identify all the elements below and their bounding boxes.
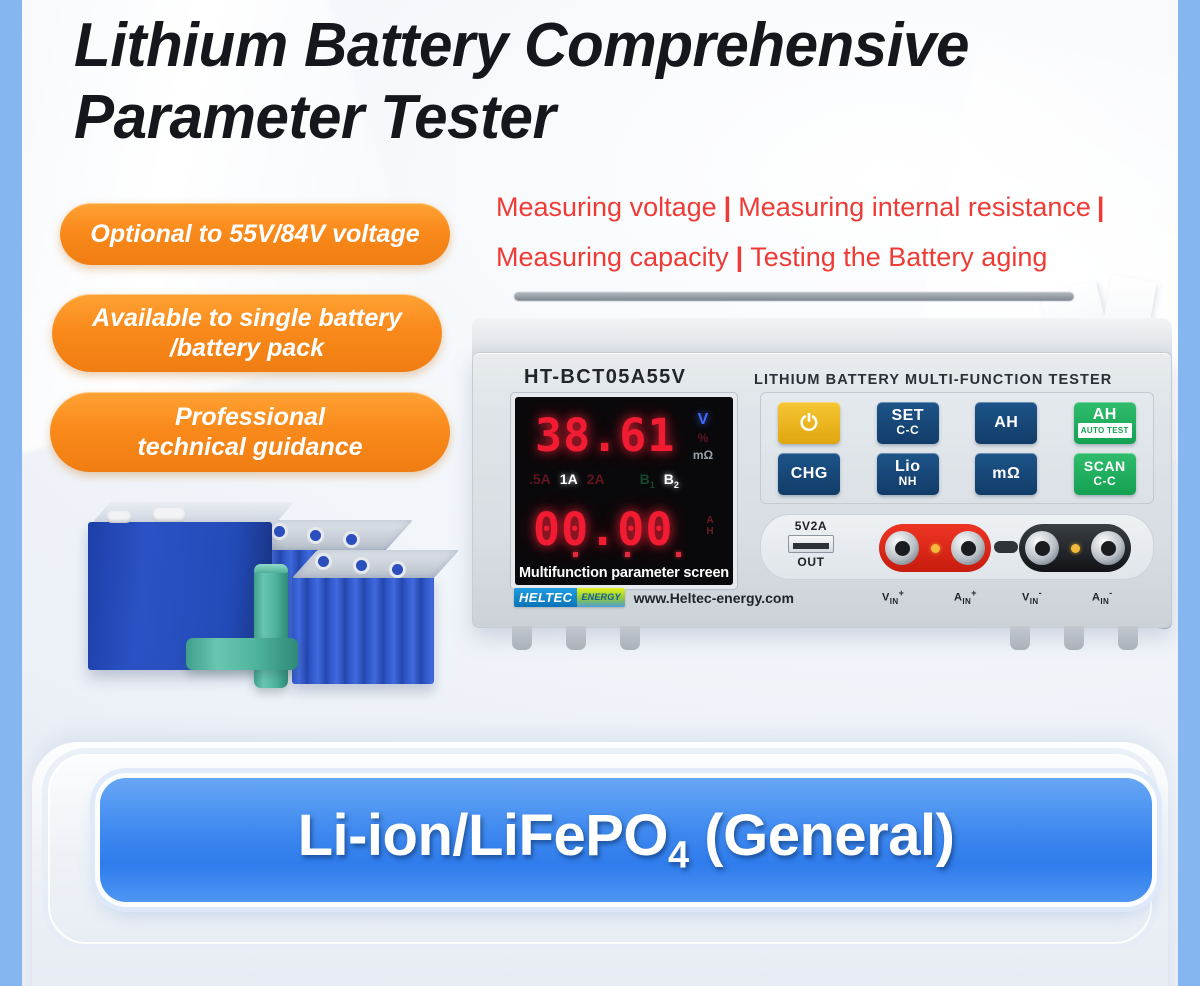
- banner-text-after: (General): [689, 803, 955, 868]
- cell-contact-dot: [346, 534, 357, 545]
- lcd-unit-group-secondary: A H: [699, 515, 721, 537]
- ain-negative-socket[interactable]: [1091, 531, 1125, 565]
- lcd-screen: 38.61 V % mΩ .5A 1A 2A B1 B2 00.00: [515, 397, 733, 585]
- device-foot: [1064, 626, 1084, 650]
- power-icon: ⏻: [800, 412, 818, 434]
- prismatic-vent: [152, 508, 186, 522]
- power-button[interactable]: ⏻: [778, 402, 840, 444]
- device-foot: [512, 626, 532, 650]
- logo-sub-text: ENERGY: [577, 588, 624, 607]
- key-badge-auto-test: AUTO TEST: [1078, 423, 1132, 438]
- key-label-line1: SCAN: [1084, 459, 1126, 474]
- battery-tester-device: HT-BCT05A55V LITHIUM BATTERY MULTI-FUNCT…: [454, 300, 1178, 655]
- cell-contact-dot: [318, 556, 329, 567]
- ain-positive-socket[interactable]: [951, 531, 985, 565]
- ah-button[interactable]: AH: [975, 402, 1037, 444]
- chg-button[interactable]: CHG: [778, 453, 840, 495]
- device-foot: [620, 626, 640, 650]
- feature-4-label: Testing the Battery aging: [750, 242, 1047, 272]
- device-handle: [514, 292, 1074, 301]
- feature-3-label: Measuring capacity: [496, 242, 729, 272]
- lcd-indicator-0p5a: .5A: [529, 471, 551, 487]
- lcd-status-dots: [573, 552, 681, 557]
- badge-voltage-option: Optional to 55V/84V voltage: [60, 203, 450, 265]
- feature-1-label: Measuring voltage: [496, 192, 717, 222]
- vin-negative-socket[interactable]: [1025, 531, 1059, 565]
- cell-contact-dot: [310, 530, 321, 541]
- prismatic-terminal: [106, 511, 132, 523]
- key-label-line2: C-C: [1093, 474, 1116, 489]
- badge-battery-support: Available to single battery /battery pac…: [52, 294, 442, 372]
- chemistry-banner: Li-ion/LiFePO4 (General): [100, 778, 1152, 902]
- key-label-line1: mΩ: [992, 466, 1020, 481]
- key-label-line2: C-C: [896, 423, 919, 438]
- lcd-bezel: 38.61 V % mΩ .5A 1A 2A B1 B2 00.00: [510, 392, 738, 590]
- feature-separator-trailing: |: [1091, 192, 1105, 222]
- key-label-line1: CHG: [791, 466, 828, 481]
- lcd-voltage-value: 38.61: [535, 409, 675, 462]
- usb-label-bottom: OUT: [775, 555, 847, 569]
- feature-line-2: Measuring capacity|Testing the Battery a…: [496, 232, 1178, 282]
- set-cc-button[interactable]: SET C-C: [877, 402, 939, 444]
- key-label-line1: AH: [1093, 407, 1117, 422]
- lcd-unit-volt: V: [683, 411, 723, 429]
- terminal-led: [931, 544, 940, 553]
- negative-terminal-block[interactable]: [1019, 524, 1131, 572]
- lcd-caption: Multifunction parameter screen: [515, 565, 733, 581]
- device-foot: [1010, 626, 1030, 650]
- terminal-label-vin-minus: VIN-: [1022, 588, 1042, 606]
- page-title: Lithium Battery Comprehensive Parameter …: [74, 10, 1151, 154]
- cell-18650-lying: [186, 638, 298, 670]
- banner-text-before: Li-ion/LiFePO: [298, 803, 668, 868]
- lcd-status-dot: [573, 552, 578, 557]
- key-label-line2: NH: [899, 474, 917, 489]
- usb-port-icon: [788, 535, 834, 553]
- logo-main-text: HELTEC: [514, 588, 577, 607]
- content-plate: Lithium Battery Comprehensive Parameter …: [22, 0, 1178, 986]
- terminal-label-ain-minus: AIN-: [1092, 588, 1113, 606]
- device-model-label: HT-BCT05A55V: [524, 366, 686, 389]
- feature-line-1: Measuring voltage|Measuring internal res…: [496, 182, 1178, 232]
- usb-output[interactable]: 5V2A OUT: [775, 519, 847, 569]
- badge-technical-guidance: Professional technical guidance: [50, 392, 450, 472]
- feature-2-label: Measuring internal resistance: [738, 192, 1091, 222]
- lcd-status-dot: [625, 552, 630, 557]
- brand-website: www.Heltec-energy.com: [634, 590, 794, 606]
- device-foot: [566, 626, 586, 650]
- banner-subscript: 4: [668, 835, 689, 877]
- chemistry-banner-text: Li-ion/LiFePO4 (General): [298, 802, 955, 878]
- lcd-indicator-2a: 2A: [587, 471, 605, 487]
- device-foot: [1118, 626, 1138, 650]
- lcd-unit-hour: H: [699, 526, 721, 537]
- lcd-unit-amp: A: [699, 515, 721, 526]
- cylindrical-cell-pack-front: [292, 574, 434, 684]
- lcd-indicator-row: .5A 1A 2A B1 B2: [529, 471, 729, 490]
- heltec-energy-logo: HELTEC ENERGY: [514, 588, 625, 607]
- cell-contact-dot: [356, 560, 367, 571]
- brand-row: HELTEC ENERGY www.Heltec-energy.com: [514, 588, 794, 607]
- cell-cap: [254, 564, 288, 573]
- terminal-led: [1071, 544, 1080, 553]
- ad-page: Lithium Battery Comprehensive Parameter …: [0, 0, 1200, 986]
- terminal-divider: [994, 541, 1018, 553]
- scan-cc-button[interactable]: SCAN C-C: [1074, 453, 1136, 495]
- lcd-unit-milliohm: mΩ: [683, 448, 723, 462]
- lcd-unit-group-primary: V % mΩ: [683, 411, 723, 462]
- terminal-label-ain-plus: AIN+: [954, 588, 977, 606]
- lcd-unit-percent: %: [683, 431, 723, 445]
- usb-label-top: 5V2A: [775, 519, 847, 533]
- terminal-label-vin-plus: VIN+: [882, 588, 904, 606]
- cell-contact-dot: [274, 526, 285, 537]
- cell-pack-top-plate: [292, 550, 459, 578]
- lcd-indicator-b2: B2: [664, 471, 679, 490]
- key-label-line1: Lio: [895, 459, 921, 474]
- device-header-label: LITHIUM BATTERY MULTI-FUNCTION TESTER: [754, 372, 1112, 388]
- key-label-line1: SET: [891, 408, 924, 423]
- feature-list: Measuring voltage|Measuring internal res…: [496, 182, 1178, 282]
- feature-separator: |: [717, 192, 739, 222]
- lcd-capacity-value: 00.00: [533, 503, 673, 556]
- lcd-indicator-b1: B1: [640, 471, 655, 490]
- positive-terminal-block[interactable]: [879, 524, 991, 572]
- lcd-indicator-1a: 1A: [560, 471, 578, 487]
- vin-positive-socket[interactable]: [885, 531, 919, 565]
- keypad-grid: ⏻ SET C-C AH AH AUTO TEST CHG: [769, 401, 1145, 495]
- battery-product-photo: [78, 468, 498, 718]
- lcd-status-dot: [676, 552, 681, 557]
- connector-strip: 5V2A OUT: [760, 514, 1154, 580]
- cell-contact-dot: [392, 564, 403, 575]
- keypad-panel: ⏻ SET C-C AH AH AUTO TEST CHG: [760, 392, 1154, 504]
- key-label-line1: AH: [994, 415, 1018, 430]
- milliohm-button[interactable]: mΩ: [975, 453, 1037, 495]
- lio-nh-button[interactable]: Lio NH: [877, 453, 939, 495]
- feature-separator: |: [729, 242, 751, 272]
- ah-auto-test-button[interactable]: AH AUTO TEST: [1074, 402, 1136, 444]
